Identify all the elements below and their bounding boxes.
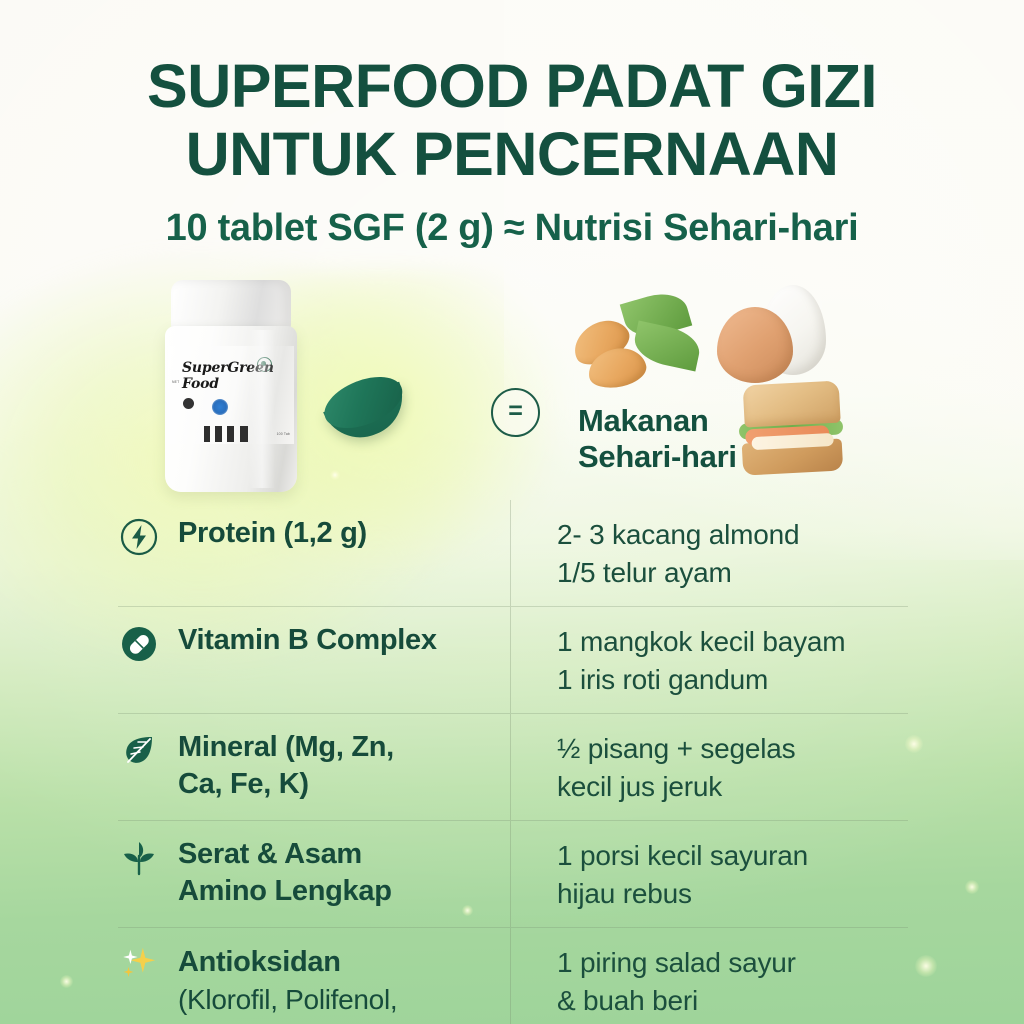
table-row: Antioksidan (Klorofil, Polifenol, Pikosi… xyxy=(118,927,908,1024)
nutrient-cell: Serat & Asam Amino Lengkap xyxy=(118,821,510,925)
equivalent-text: 2- 3 kacang almond 1/5 telur ayam xyxy=(557,516,902,592)
table-row: Protein (1,2 g) 2- 3 kacang almond 1/5 t… xyxy=(118,500,908,606)
equivalent-line: 1 iris roti gandum xyxy=(557,661,902,699)
label-fineprint-right: 100 Tab xyxy=(277,432,290,436)
equivalent-line: 1 porsi kecil sayuran xyxy=(557,837,902,875)
nutrient-name-cont: Ca, Fe, K) xyxy=(178,766,394,803)
equivalent-line: kecil jus jeruk xyxy=(557,768,902,806)
product-bottle-image: SuperGreen Food NET 100 Tab xyxy=(165,280,297,492)
equivalent-line: 1 piring salad sayur xyxy=(557,944,902,982)
label-fineprint-left: NET xyxy=(172,380,179,384)
eggs-image xyxy=(712,285,842,395)
equivalent-line: 2- 3 kacang almond xyxy=(557,516,902,554)
nutrient-name-detail: (Klorofil, Polifenol, Pikosianin) xyxy=(178,981,496,1024)
nutrient-label: Protein (1,2 g) xyxy=(178,514,367,552)
equivalent-cell: 1 piring salad sayur & buah beri xyxy=(510,928,908,1024)
sprout-icon xyxy=(118,837,160,879)
equivalent-cell: ½ pisang + segelas kecil jus jeruk xyxy=(510,714,908,820)
bottle-highlight xyxy=(249,330,275,488)
equivalent-text: 1 piring salad sayur & buah beri xyxy=(557,944,902,1020)
sparkles-icon xyxy=(118,944,160,986)
page-title-line-1: SUPERFOOD PADAT GIZI xyxy=(0,52,1024,120)
nutrient-cell: Mineral (Mg, Zn, Ca, Fe, K) xyxy=(118,714,510,818)
bread-top-slice xyxy=(743,381,841,428)
nutrient-name-cont: Amino Lengkap xyxy=(178,873,392,910)
equivalent-cell: 1 mangkok kecil bayam 1 iris roti gandum xyxy=(510,607,908,713)
food-caption-line-1: Makanan xyxy=(578,403,737,439)
table-row: Mineral (Mg, Zn, Ca, Fe, K) ½ pisang + s… xyxy=(118,713,908,820)
table-row: Serat & Asam Amino Lengkap 1 porsi kecil… xyxy=(118,820,908,927)
equivalent-cell: 1 porsi kecil sayuran hijau rebus xyxy=(510,821,908,927)
equivalent-line: & buah beri xyxy=(557,982,902,1020)
hero-comparison-row: SuperGreen Food NET 100 Tab = xyxy=(0,275,1024,515)
nutrient-name: Serat & Asam xyxy=(178,838,362,870)
nutrient-name: Vitamin B Complex xyxy=(178,624,437,656)
nutrient-name: Mineral (Mg, Zn, xyxy=(178,731,394,763)
equivalent-text: 1 mangkok kecil bayam 1 iris roti gandum xyxy=(557,623,902,699)
nutrient-comparison-table: Protein (1,2 g) 2- 3 kacang almond 1/5 t… xyxy=(118,500,908,1024)
equivalent-cell: 2- 3 kacang almond 1/5 telur ayam xyxy=(510,500,908,606)
infographic-poster: SUPERFOOD PADAT GIZI UNTUK PENCERNAAN 10… xyxy=(0,0,1024,1024)
almonds-with-leaves-image xyxy=(572,295,712,400)
equals-symbol: = xyxy=(508,399,523,424)
nutrient-cell: Antioksidan (Klorofil, Polifenol, Pikosi… xyxy=(118,928,510,1024)
pill-capsule-icon xyxy=(118,623,160,665)
everyday-food-illustration: Makanan Sehari-hari xyxy=(560,275,890,505)
equivalent-line: hijau rebus xyxy=(557,875,902,913)
table-row: Vitamin B Complex 1 mangkok kecil bayam … xyxy=(118,606,908,713)
nutrient-name: Protein (1,2 g) xyxy=(178,517,367,549)
page-subtitle: 10 tablet SGF (2 g) ≈ Nutrisi Sehari-har… xyxy=(0,206,1024,250)
nutrient-cell: Protein (1,2 g) xyxy=(118,500,510,592)
everyday-food-caption: Makanan Sehari-hari xyxy=(578,403,737,475)
equivalent-text: 1 porsi kecil sayuran hijau rebus xyxy=(557,837,902,913)
green-tablet-image xyxy=(317,367,415,451)
label-seal-icon xyxy=(183,398,194,409)
nutrient-cell: Vitamin B Complex xyxy=(118,607,510,693)
bottle-label: SuperGreen Food NET 100 Tab xyxy=(168,346,294,444)
bottle-cap xyxy=(171,280,291,330)
equivalent-line: 1/5 telur ayam xyxy=(557,554,902,592)
lightning-bolt-circle-icon xyxy=(118,516,160,558)
nutrient-label: Serat & Asam Amino Lengkap xyxy=(178,835,392,910)
poster-header: SUPERFOOD PADAT GIZI UNTUK PENCERNAAN 10… xyxy=(0,52,1024,250)
equivalent-line: ½ pisang + segelas xyxy=(557,730,902,768)
equivalent-text: ½ pisang + segelas kecil jus jeruk xyxy=(557,730,902,806)
label-blue-accent-icon xyxy=(212,399,228,415)
food-caption-line-2: Sehari-hari xyxy=(578,439,737,475)
equivalent-line: 1 mangkok kecil bayam xyxy=(557,623,902,661)
nutrient-name: Antioksidan xyxy=(178,946,341,978)
leaf-icon xyxy=(118,730,160,772)
nutrient-label: Mineral (Mg, Zn, Ca, Fe, K) xyxy=(178,728,394,803)
page-title-line-2: UNTUK PENCERNAAN xyxy=(0,120,1024,188)
nutrient-label: Vitamin B Complex xyxy=(178,621,437,659)
sandwich-image xyxy=(733,380,853,478)
label-barcode-graphic xyxy=(204,426,254,442)
equals-badge-icon: = xyxy=(491,388,540,437)
nutrient-label: Antioksidan (Klorofil, Polifenol, Pikosi… xyxy=(178,942,496,1024)
